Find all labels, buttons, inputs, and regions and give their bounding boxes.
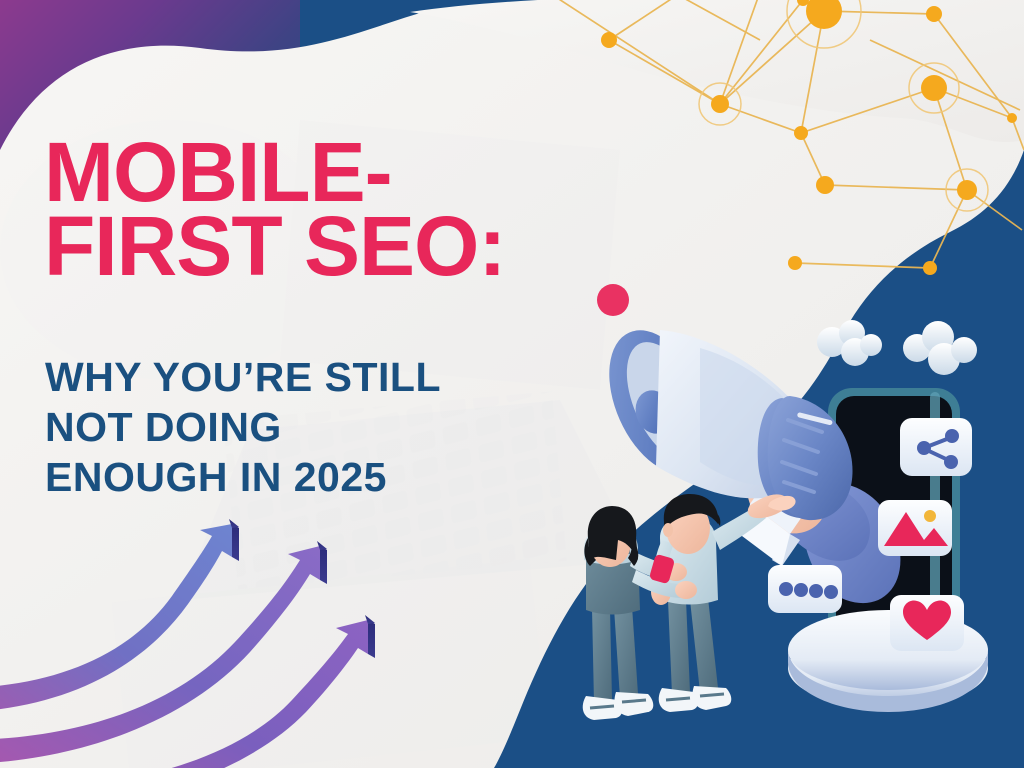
page-title: MOBILE- FIRST SEO: — [44, 136, 505, 284]
heart-icon-card — [890, 595, 964, 651]
megaphone — [589, 315, 853, 520]
cloud-right — [903, 321, 977, 375]
image-icon-card — [878, 500, 952, 556]
poster-canvas: MOBILE- FIRST SEO: WHY YOU’RE STILL NOT … — [0, 0, 1024, 768]
share-icon-card — [900, 418, 972, 476]
page-subtitle: WHY YOU’RE STILL NOT DOING ENOUGH IN 202… — [45, 352, 441, 502]
pink-accent-dots — [597, 284, 629, 316]
cloud-left — [817, 320, 882, 366]
comment-dots-card — [768, 565, 842, 613]
